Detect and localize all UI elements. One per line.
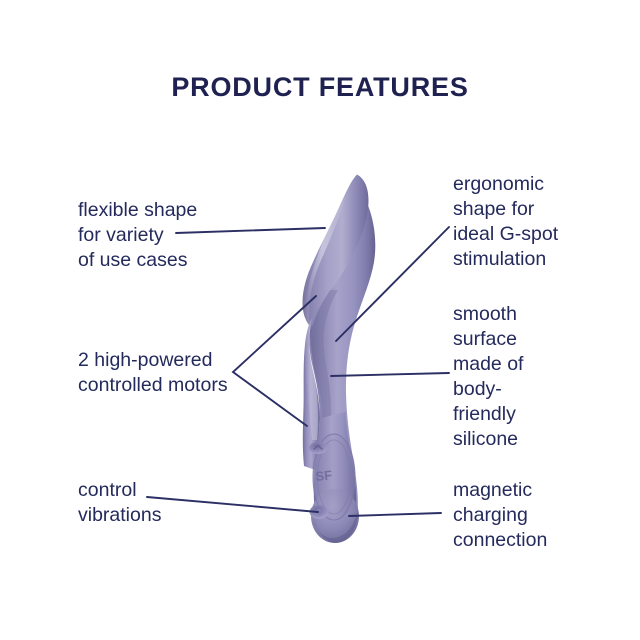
callout-ergonomic: ergonomic shape for ideal G-spot stimula… <box>453 172 558 272</box>
callout-smooth-surface: smooth surface made of body- friendly si… <box>453 302 523 452</box>
callout-motors: 2 high-powered controlled motors <box>78 348 228 398</box>
brand-logo: SF <box>315 467 333 484</box>
callout-flexible-shape: flexible shape for variety of use cases <box>78 198 197 273</box>
up-button[interactable] <box>309 442 327 454</box>
power-button-inner <box>315 508 322 515</box>
product-features-infographic: PRODUCT FEATURES <box>0 0 640 640</box>
callout-control-vibrations: control vibrations <box>78 478 161 528</box>
callout-magnetic-charging: magnetic charging connection <box>453 478 547 553</box>
product-body: SF <box>302 175 375 544</box>
